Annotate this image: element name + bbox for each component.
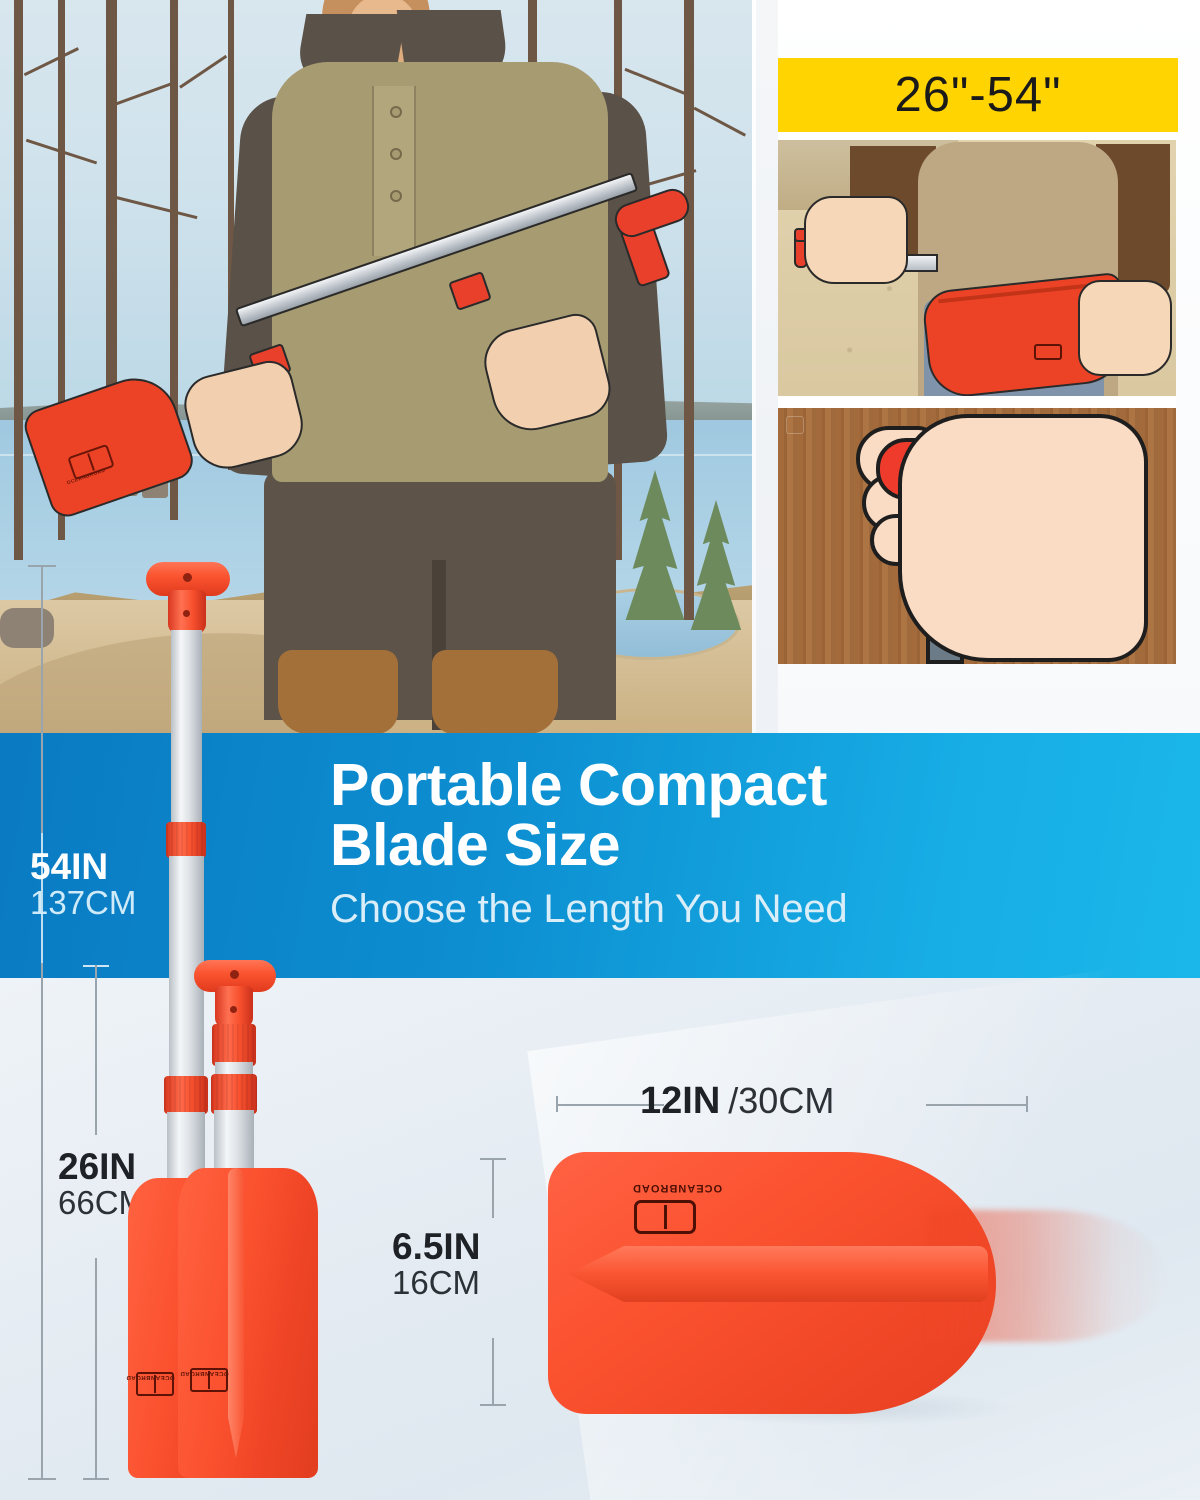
dim-extended-cm: 137CM (30, 886, 136, 920)
dim-height-line-upper (492, 1158, 494, 1218)
man-boot-left (278, 650, 398, 733)
inset-divider (778, 396, 1176, 408)
dimension-label-extended: 54IN 137CM (30, 848, 136, 921)
collapsed-blade-spine (228, 1168, 244, 1458)
dim-width-line-right (926, 1104, 1028, 1106)
hero-scene-photo: OCEANBROAD (0, 0, 752, 733)
dim-collapsed-inches: 26IN (58, 1148, 146, 1186)
right-panel-divider (756, 0, 778, 733)
dim-26-line-upper (95, 965, 97, 1135)
rock (0, 608, 54, 648)
headline-text-group: Portable Compact Blade Size Choose the L… (330, 755, 1170, 932)
extended-blade-logo-text: OCEANBROAD (126, 1374, 175, 1380)
dim-height-cm: 16CM (392, 1266, 480, 1300)
shirt-button (390, 148, 402, 160)
dim-54-line-upper (41, 565, 43, 833)
collapsed-shaft-bottom (214, 1110, 254, 1174)
dim-26-line-lower (95, 1258, 97, 1480)
collapsed-collar-lower (211, 1074, 257, 1114)
dim-extended-inches: 54IN (30, 848, 136, 886)
collapsed-collar-upper (212, 1024, 256, 1066)
blade-center-rib (568, 1246, 988, 1302)
dimension-label-blade-width: 12IN /30CM (640, 1080, 834, 1123)
extended-handle-hole (183, 573, 192, 582)
product-infographic: OCEANBROAD 26"-54" (0, 0, 1200, 1500)
collapsed-handle-hole (230, 970, 239, 979)
inset-hand-left (804, 196, 908, 284)
inset-hand-right (1078, 280, 1172, 376)
inset-blade-logo (1034, 344, 1062, 360)
dim-width-cm: /30CM (728, 1080, 834, 1122)
headline-subtitle: Choose the Length You Need (330, 887, 1170, 932)
gripping-hand (898, 414, 1148, 662)
length-range-label: 26"-54" (894, 67, 1061, 123)
dimension-label-blade-height: 6.5IN 16CM (392, 1228, 480, 1301)
blade-logo-text: OCEANBROAD (632, 1182, 722, 1194)
logo-divider (664, 1205, 667, 1229)
dim-26-cap-bottom (83, 1478, 109, 1480)
shirt-button (390, 190, 402, 202)
extended-collar-lower (164, 1076, 208, 1114)
dim-height-cap-bottom (480, 1404, 506, 1406)
length-range-badge: 26"-54" (778, 58, 1178, 132)
headline-line-2: Blade Size (330, 815, 1170, 875)
collapsed-blade-logo-text: OCEANBROAD (180, 1370, 229, 1376)
inset-photo-handle-grip (778, 408, 1176, 664)
dim-height-inches: 6.5IN (392, 1228, 480, 1266)
collapsed-stem-hole (230, 1006, 237, 1013)
dim-54-cap-bottom (28, 1478, 56, 1480)
blade-detail-view: OCEANBROAD (548, 1152, 1148, 1422)
man-boot-right (432, 650, 558, 733)
dim-width-inches: 12IN (640, 1080, 720, 1123)
shirt-button (390, 106, 402, 118)
extended-shaft-upper (171, 630, 202, 826)
dim-width-cap-right (1026, 1096, 1028, 1112)
collapsed-blade (178, 1168, 318, 1478)
dim-height-line-lower (492, 1338, 494, 1406)
extended-collar-upper (166, 822, 206, 858)
dim-width-cap-left (556, 1096, 558, 1112)
headline-line-1: Portable Compact (330, 755, 1170, 815)
blade-logo-mark (634, 1200, 696, 1234)
inset-photo-collapsed-paddle (778, 140, 1176, 396)
tree-trunk (14, 0, 23, 560)
watermark-icon (786, 416, 804, 434)
dim-54-line-lower (41, 963, 43, 1480)
extended-stem-hole (183, 610, 190, 617)
